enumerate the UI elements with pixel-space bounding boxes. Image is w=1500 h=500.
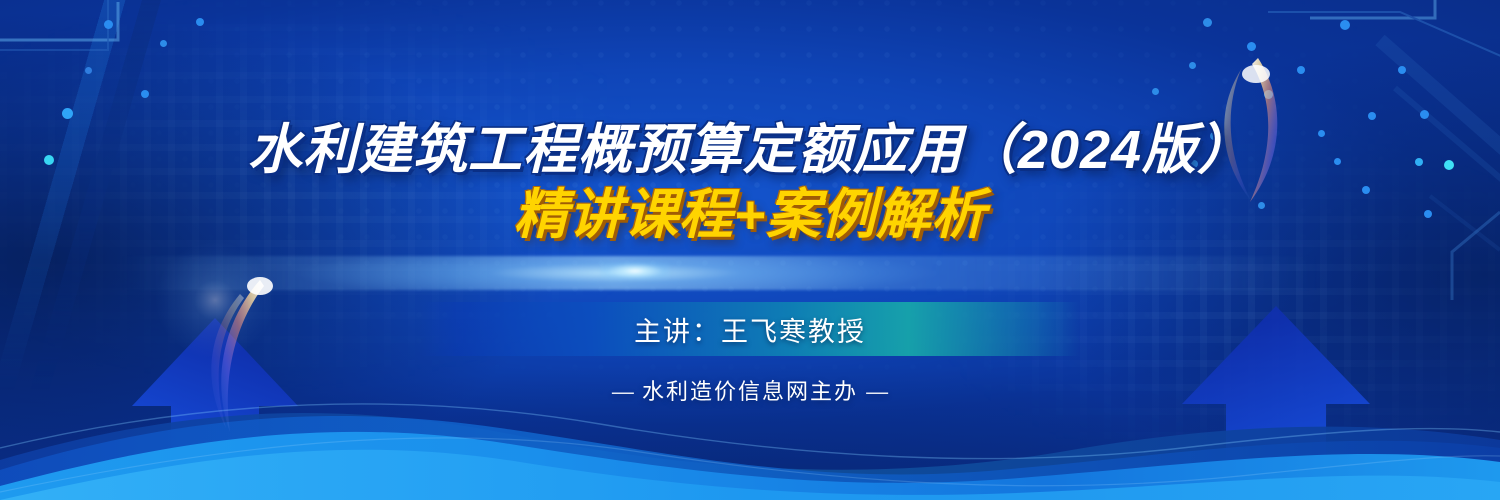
banner-title-sub: 精讲课程+案例解析	[514, 187, 987, 244]
course-promo-banner: 水利建筑工程概预算定额应用（2024版） 精讲课程+案例解析 主讲：王飞寒教授 …	[0, 0, 1500, 500]
banner-title-main: 水利建筑工程概预算定额应用（2024版）	[248, 122, 1252, 179]
banner-content: 水利建筑工程概预算定额应用（2024版） 精讲课程+案例解析	[0, 0, 1500, 500]
